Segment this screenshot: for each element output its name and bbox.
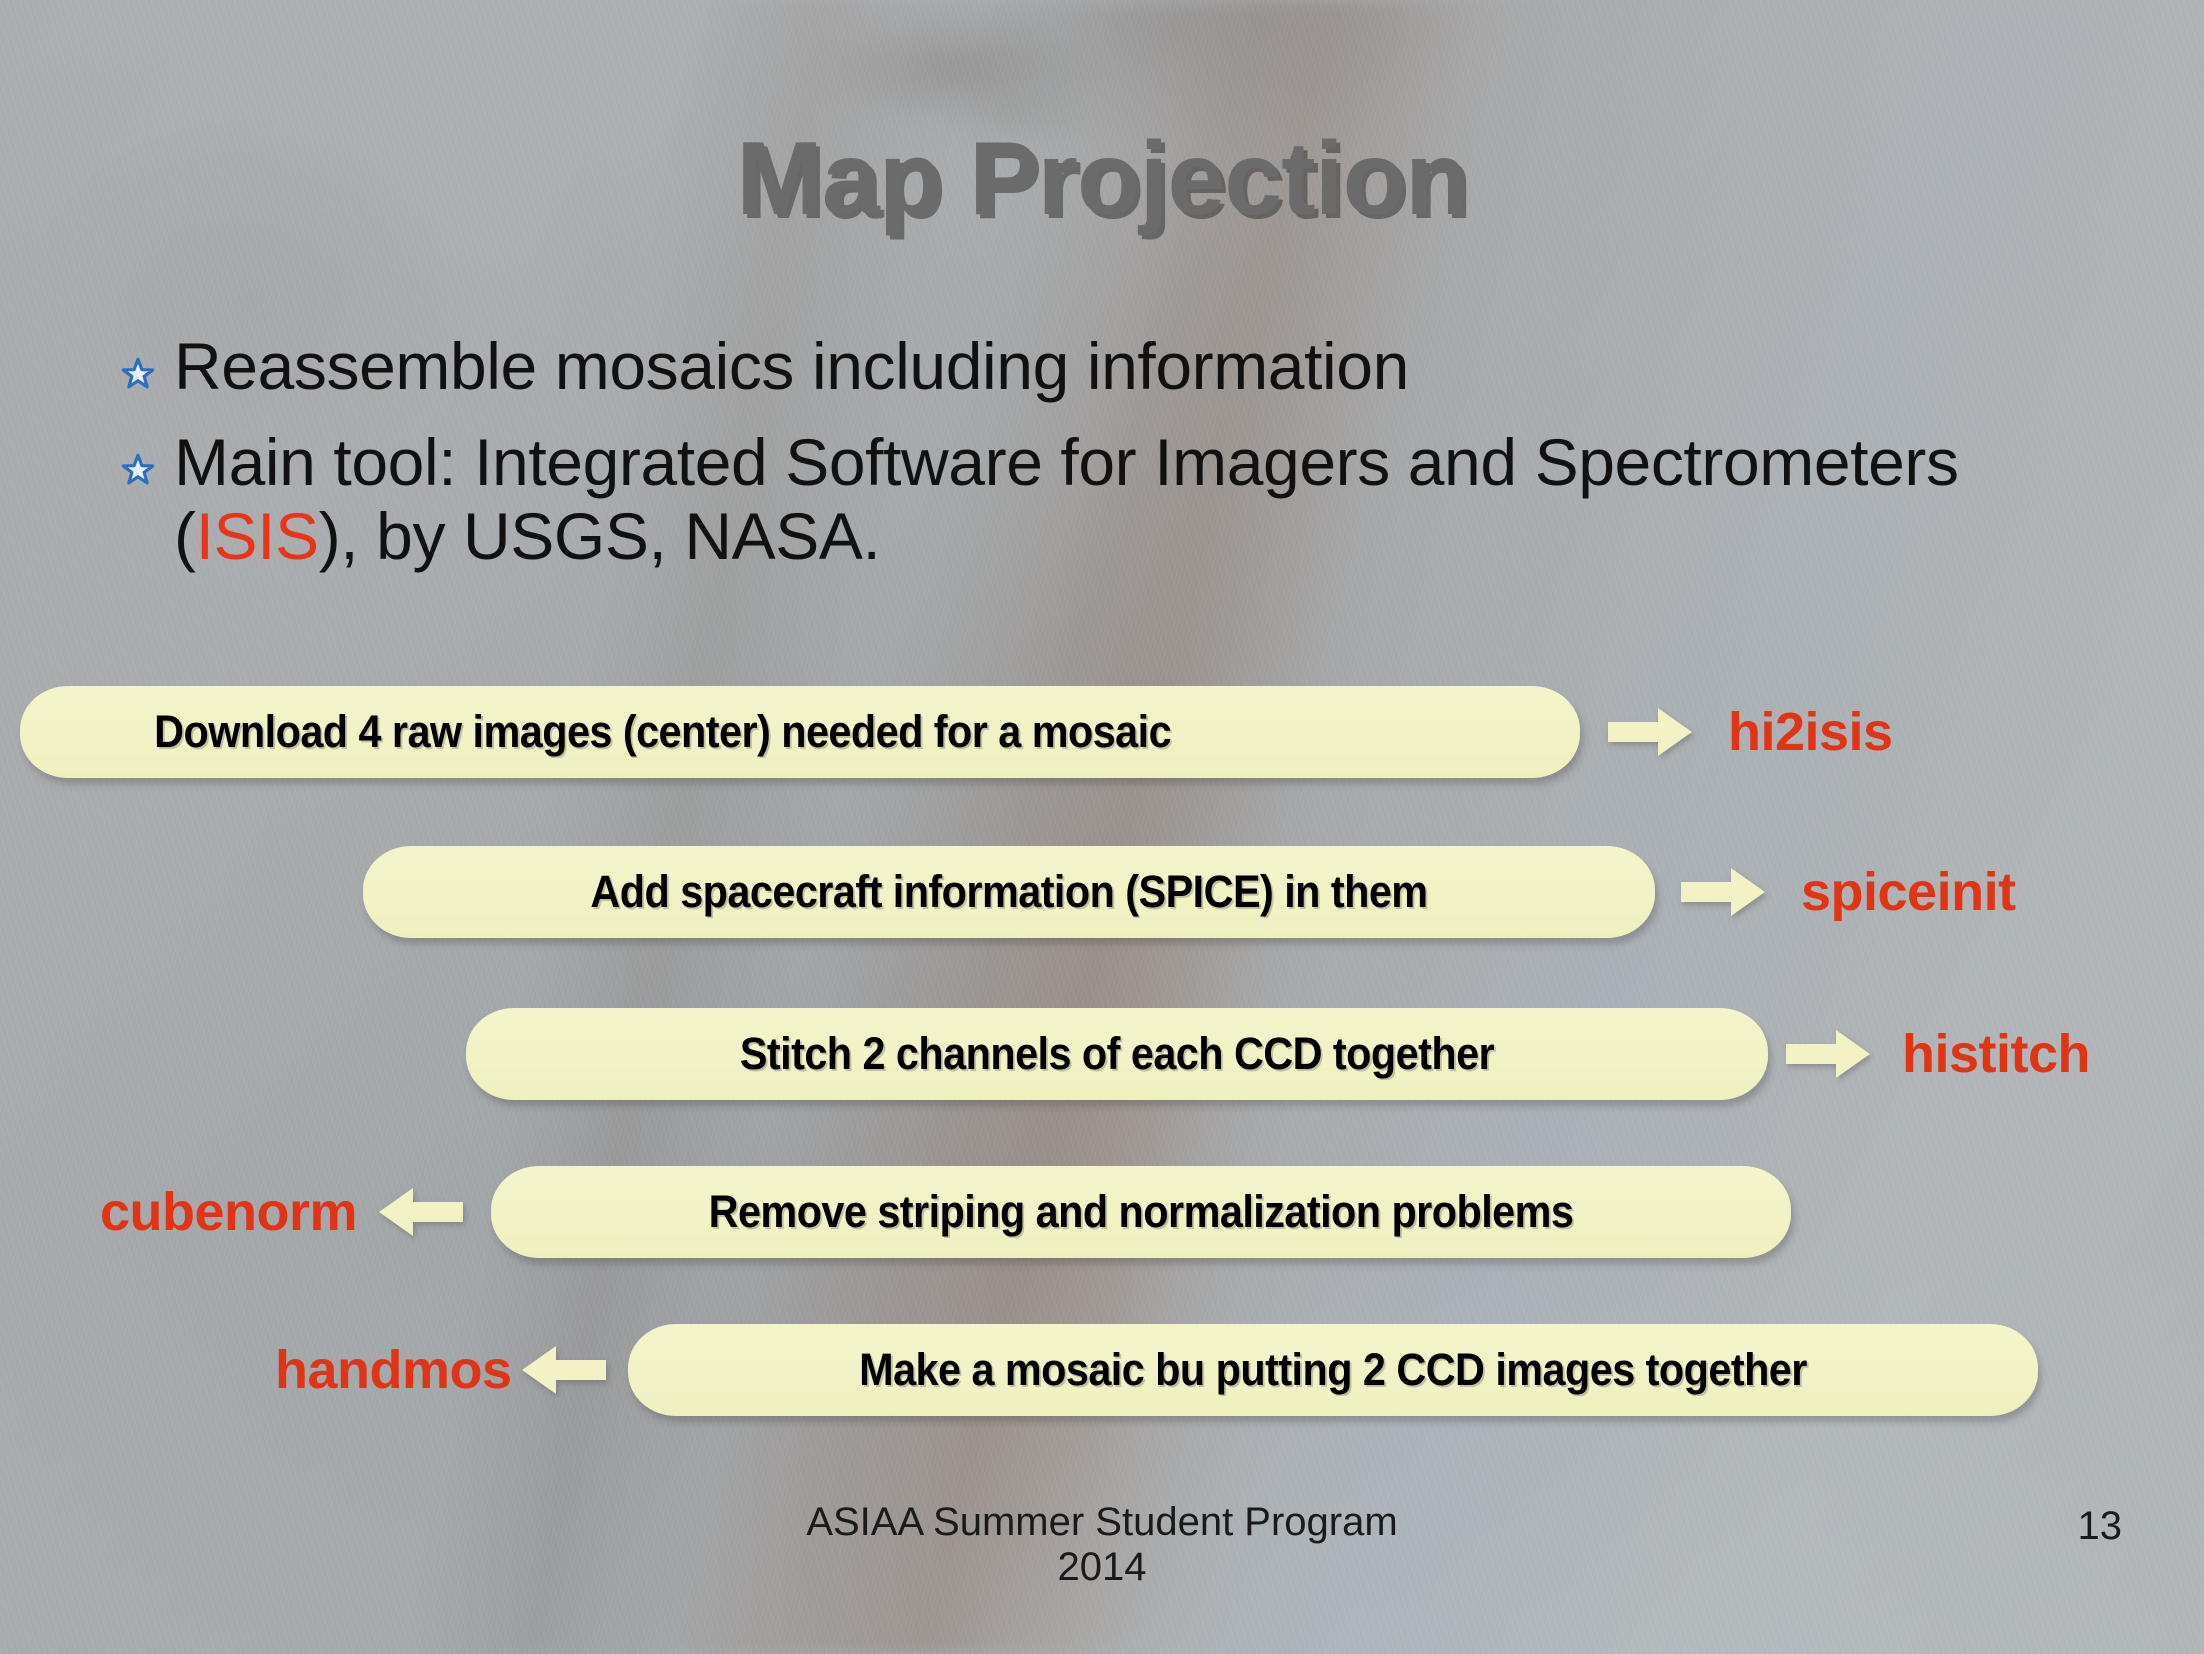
isis-highlight: ISIS xyxy=(196,499,319,573)
workflow-step-3: Stitch 2 channels of each CCD together h… xyxy=(466,1008,2090,1100)
workflow-step-1: Download 4 raw images (center) needed fo… xyxy=(20,686,1893,778)
arrow-left-icon xyxy=(522,1342,606,1398)
bullet-item-1-label: Reassemble mosaics including information xyxy=(174,330,2080,404)
workflow-step-4: cubenorm Remove striping and normalizati… xyxy=(100,1166,1791,1258)
bullet-item-1: Reassemble mosaics including information xyxy=(120,330,2080,404)
workflow-step-3-label: Stitch 2 channels of each CCD together xyxy=(518,1028,1716,1080)
workflow-step-5-command: handmos xyxy=(275,1339,512,1401)
workflow-step-2-label: Add spacecraft information (SPICE) in th… xyxy=(415,866,1604,918)
star-bullet-icon xyxy=(120,330,174,397)
bullet-item-2-text-after: ), by USGS, NASA. xyxy=(319,499,881,573)
arrow-left-icon xyxy=(379,1184,463,1240)
arrow-right-icon xyxy=(1786,1026,1870,1082)
page-number: 13 xyxy=(2078,1504,2123,1549)
workflow-step-5: handmos Make a mosaic bu putting 2 CCD i… xyxy=(275,1324,2038,1416)
workflow-step-1-pill[interactable]: Download 4 raw images (center) needed fo… xyxy=(20,686,1580,778)
bullet-item-2: Main tool: Integrated Software for Image… xyxy=(120,426,2080,574)
workflow-step-3-pill[interactable]: Stitch 2 channels of each CCD together xyxy=(466,1008,1768,1100)
workflow-step-4-pill[interactable]: Remove striping and normalization proble… xyxy=(491,1166,1791,1258)
footer-line-2: 2014 xyxy=(0,1545,2204,1590)
workflow-step-1-label: Download 4 raw images (center) needed fo… xyxy=(82,706,1517,758)
slide-canvas: Map Projection Reassemble mosaics includ… xyxy=(0,0,2204,1654)
workflow-step-1-command: hi2isis xyxy=(1728,701,1893,763)
workflow-step-5-label: Make a mosaic bu putting 2 CCD images to… xyxy=(684,1344,1981,1396)
workflow-step-2: Add spacecraft information (SPICE) in th… xyxy=(363,846,2016,938)
workflow-step-2-pill[interactable]: Add spacecraft information (SPICE) in th… xyxy=(363,846,1655,938)
slide-title: Map Projection xyxy=(0,120,2204,239)
star-bullet-icon xyxy=(120,426,174,493)
bullet-list: Reassemble mosaics including information… xyxy=(120,330,2080,596)
workflow-step-3-command: histitch xyxy=(1902,1023,2090,1085)
workflow-step-4-command: cubenorm xyxy=(100,1181,357,1243)
footer-line-1: ASIAA Summer Student Program xyxy=(0,1500,2204,1545)
workflow-step-2-command: spiceinit xyxy=(1801,861,2016,923)
arrow-right-icon xyxy=(1681,864,1765,920)
bullet-item-2-label: Main tool: Integrated Software for Image… xyxy=(174,426,2080,574)
workflow-step-5-pill[interactable]: Make a mosaic bu putting 2 CCD images to… xyxy=(628,1324,2038,1416)
footer: ASIAA Summer Student Program 2014 xyxy=(0,1500,2204,1590)
arrow-right-icon xyxy=(1608,704,1692,760)
workflow-step-4-label: Remove striping and normalization proble… xyxy=(543,1186,1739,1238)
